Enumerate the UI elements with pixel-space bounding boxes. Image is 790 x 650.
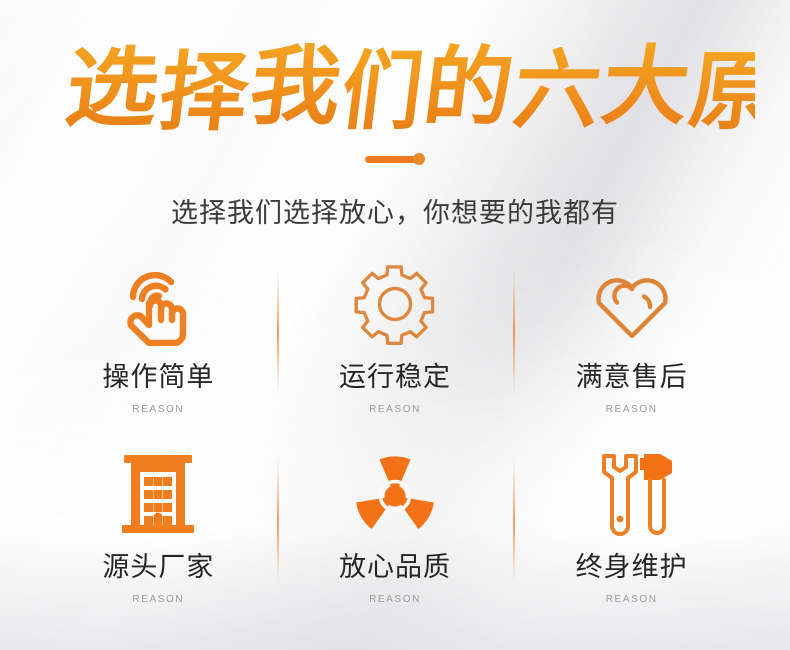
title-char-6: 六 <box>508 40 606 141</box>
reason-title: 源头厂家 <box>102 552 214 584</box>
title-char-7: 大 <box>597 36 695 137</box>
reason-title: 运行稳定 <box>339 362 451 394</box>
title-char-8: 原 <box>684 41 755 142</box>
page-title: .ch { font-family: "DejaVu Serif", "Libe… <box>0 36 790 146</box>
reason-item-5[interactable]: 放心品质 REASON <box>277 448 514 638</box>
reason-item-3[interactable]: 满意售后 REASON <box>513 258 750 448</box>
title-underline <box>0 152 790 166</box>
gear-icon <box>354 258 436 350</box>
reason-caption: REASON <box>369 404 421 416</box>
title-char-1: 选 <box>60 38 164 139</box>
reason-caption: REASON <box>606 594 658 606</box>
page-subtitle: 选择我们选择放心，你想要的我都有 <box>0 196 790 232</box>
title-char-3: 我 <box>245 36 347 137</box>
reason-title: 满意售后 <box>576 362 688 394</box>
underline-bar <box>365 156 417 163</box>
reason-title: 操作简单 <box>102 362 214 394</box>
reason-item-6[interactable]: 终身维护 REASON <box>513 448 750 638</box>
title-char-4: 们 <box>336 41 428 142</box>
reason-title: 放心品质 <box>339 552 451 584</box>
title-char-2: 择 <box>154 42 255 143</box>
factory-building-icon <box>118 448 198 540</box>
wrench-hammer-icon <box>586 448 678 540</box>
reason-title: 终身维护 <box>576 552 688 584</box>
reason-caption: REASON <box>132 594 184 606</box>
reasons-grid: 操作简单 REASON 运行稳定 REASON <box>40 258 750 638</box>
title-calligraphy: .ch { font-family: "DejaVu Serif", "Libe… <box>35 36 755 146</box>
title-char-5: 的 <box>418 37 518 138</box>
reason-caption: REASON <box>606 404 658 416</box>
reason-item-1[interactable]: 操作简单 REASON <box>40 258 277 448</box>
reason-item-2[interactable]: 运行稳定 REASON <box>277 258 514 448</box>
reason-caption: REASON <box>132 404 184 416</box>
radiation-quality-icon <box>352 448 438 540</box>
reason-caption: REASON <box>369 594 421 606</box>
promo-banner: .ch { font-family: "DejaVu Serif", "Libe… <box>0 0 790 650</box>
reason-item-4[interactable]: 源头厂家 REASON <box>40 448 277 638</box>
tap-gesture-icon <box>118 258 198 350</box>
underline-dot <box>413 153 425 165</box>
heart-icon <box>589 258 675 350</box>
